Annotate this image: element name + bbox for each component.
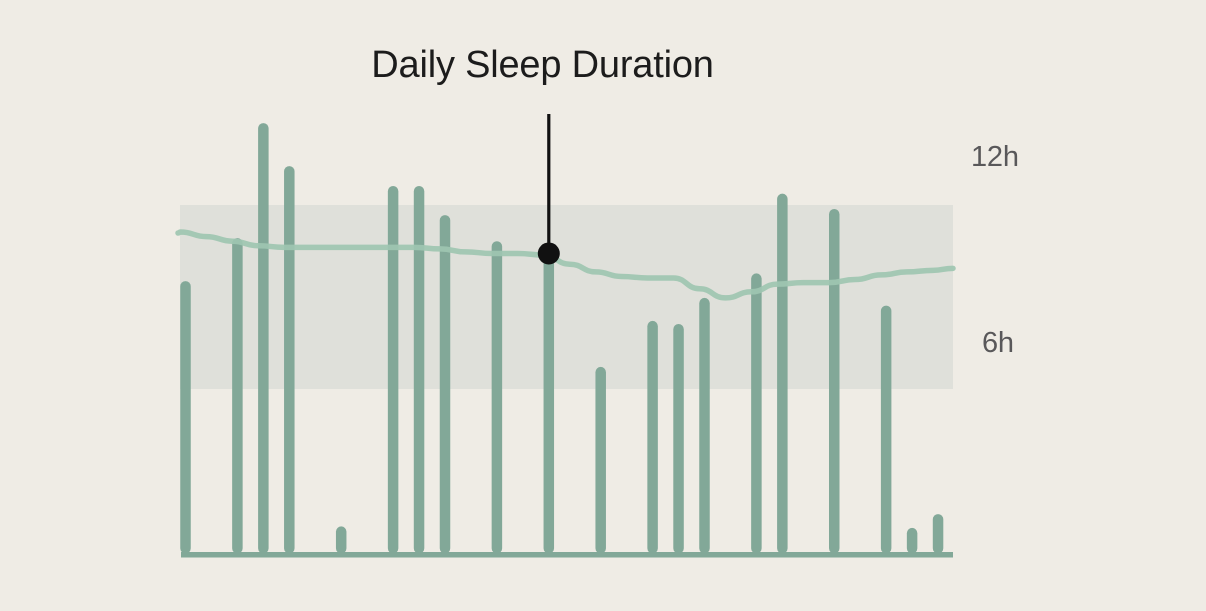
bar	[336, 526, 347, 553]
bar	[180, 281, 191, 553]
bar	[699, 298, 710, 554]
bar	[647, 321, 658, 554]
bar	[829, 209, 840, 554]
bar	[777, 194, 788, 554]
bar	[544, 253, 555, 553]
baseline-axis	[181, 552, 953, 558]
bar	[751, 273, 762, 553]
bar	[440, 215, 451, 553]
annotation-dot	[538, 242, 560, 264]
bar	[673, 324, 684, 554]
page-title: Daily Sleep Duration	[0, 45, 1085, 87]
y-axis-tick-6h: 6h	[982, 327, 1014, 360]
bar	[414, 186, 425, 554]
bar	[232, 238, 243, 553]
bar	[595, 367, 606, 554]
sleep-duration-chart	[0, 0, 1206, 611]
bar	[388, 186, 399, 554]
chart-container: Daily Sleep Duration 12h 6h	[0, 0, 1206, 611]
bar	[492, 241, 503, 553]
bar	[258, 123, 269, 553]
bar	[907, 528, 918, 554]
bar	[881, 306, 892, 554]
bar	[933, 514, 944, 553]
y-axis-tick-12h: 12h	[971, 141, 1019, 174]
bar	[284, 166, 295, 553]
